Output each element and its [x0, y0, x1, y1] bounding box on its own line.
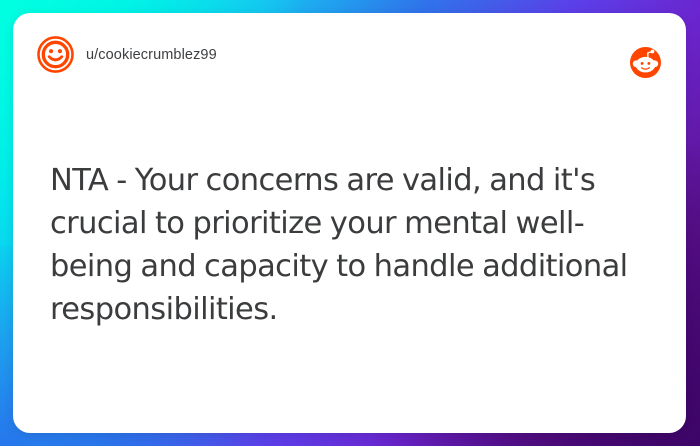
post-header: u/cookiecrumblez99 [13, 13, 686, 105]
post-author-username: u/cookiecrumblez99 [86, 47, 217, 63]
reddit-snoo-logo-icon[interactable] [630, 47, 661, 78]
post-text: NTA - Your concerns are valid, and it's … [50, 159, 646, 331]
post-author[interactable]: u/cookiecrumblez99 [37, 36, 217, 73]
post-body: NTA - Your concerns are valid, and it's … [50, 159, 646, 331]
smiley-face-avatar-icon[interactable] [37, 36, 74, 73]
reddit-post-card: u/cookiecrumblez99 NTA - Your concerns a… [13, 13, 686, 433]
